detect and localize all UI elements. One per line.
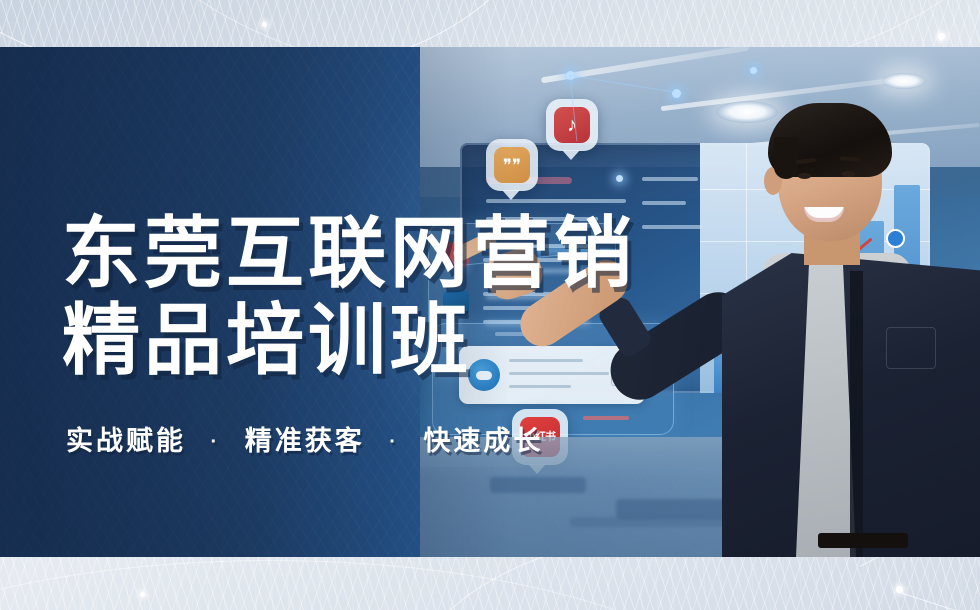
subtitle-separator: · bbox=[211, 431, 221, 454]
glow-node bbox=[140, 592, 145, 597]
title-line-1: 东莞互联网营销 bbox=[62, 210, 702, 297]
subtitle-item-2: 精准获客 bbox=[245, 426, 365, 456]
glow-node bbox=[938, 33, 945, 40]
subtitle-separator: · bbox=[389, 431, 399, 454]
banner-hero: ♪ ❞❞ 小红书 bbox=[0, 47, 980, 557]
glow-node bbox=[262, 22, 267, 27]
subtitle: 实战赋能 · 精准获客 · 快速成长 bbox=[66, 419, 702, 458]
banner-stage: ♪ ❞❞ 小红书 bbox=[0, 0, 980, 610]
title-line-2: 精品培训班 bbox=[62, 297, 702, 384]
subtitle-item-3: 快速成长 bbox=[423, 426, 543, 456]
headline-block: 东莞互联网营销 精品培训班 实战赋能 · 精准获客 · 快速成长 bbox=[62, 210, 702, 458]
subtitle-item-1: 实战赋能 bbox=[66, 426, 186, 456]
